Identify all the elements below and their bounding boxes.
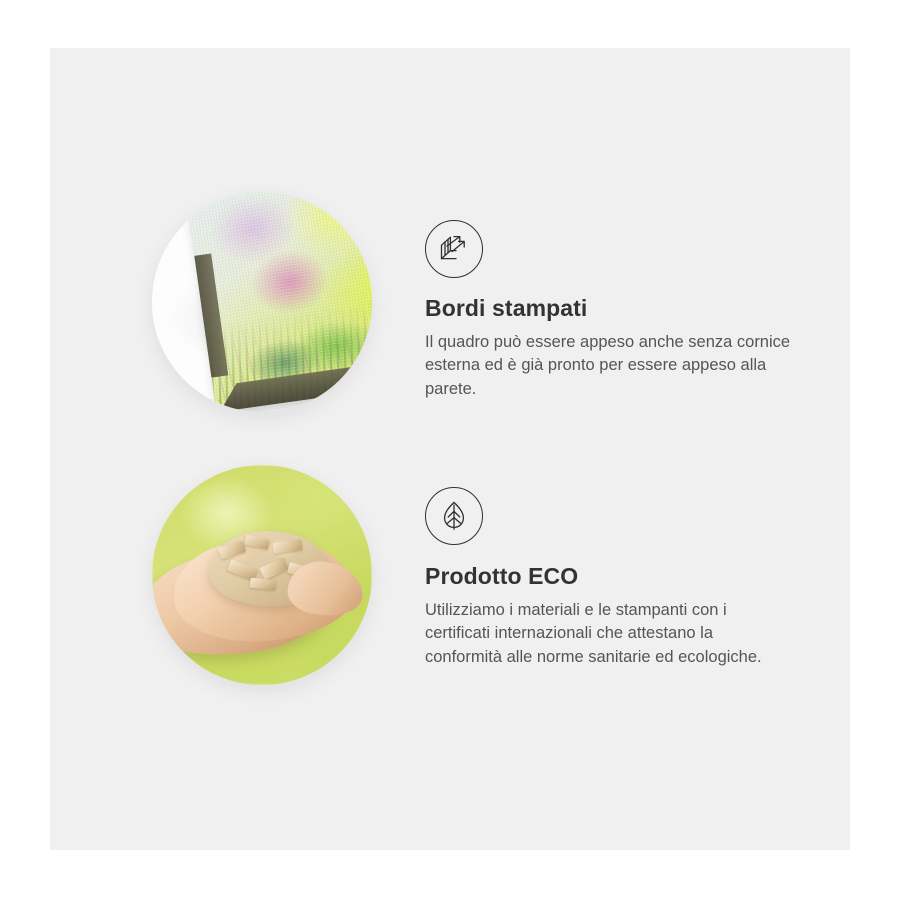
eco-photo-art [152,465,372,685]
feature-description: Utilizziamo i materiali e le stampanti c… [425,599,793,669]
canvas-slab [186,192,372,412]
feature-description: Il quadro può essere appeso anche senza … [425,331,793,401]
wood-chip [244,535,269,550]
wood-chip [273,540,303,555]
leaf-icon [425,487,483,545]
feature-title: Bordi stampati [425,295,805,322]
feature-text-column: Bordi stampati Il quadro può essere appe… [425,192,805,401]
content-panel: Bordi stampati Il quadro può essere appe… [50,48,850,850]
canvas-edge-photo [152,192,372,412]
printed-edges-icon [425,220,483,278]
feature-title: Prodotto ECO [425,563,805,590]
product-feature-infographic: Bordi stampati Il quadro può essere appe… [0,0,900,900]
wood-chip [249,578,276,591]
eco-hands-photo [152,465,372,685]
canvas-photo-art [152,192,372,412]
feature-text-column: Prodotto ECO Utilizziamo i materiali e l… [425,465,805,669]
wood-chip [260,557,289,581]
